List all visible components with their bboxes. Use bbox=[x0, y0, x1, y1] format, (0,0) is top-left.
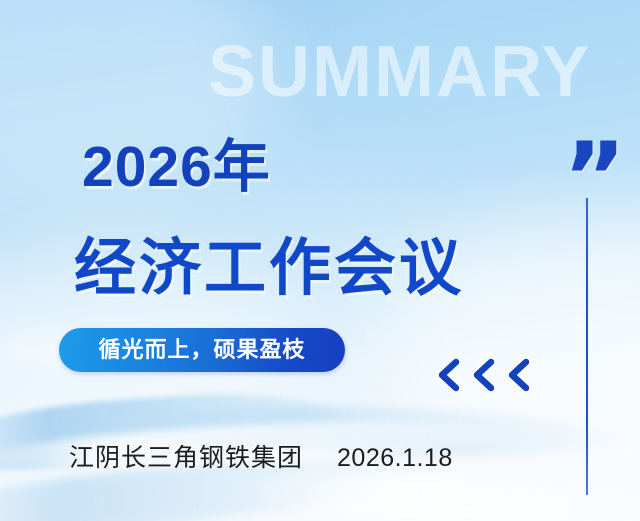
quotation-mark-icon: ” bbox=[563, 130, 626, 226]
watermark-heading: SUMMARY bbox=[208, 36, 638, 108]
vertical-accent-rule bbox=[586, 198, 588, 495]
slogan-badge: 循光而上，硕果盈枝 bbox=[59, 328, 345, 372]
page-title-year: 2026年 bbox=[82, 139, 271, 196]
chevron-left-icon bbox=[432, 358, 462, 392]
footer-date: 2026.1.18 bbox=[337, 446, 453, 471]
background-wave-5 bbox=[229, 466, 640, 521]
footer-organization: 江阴长三角钢铁集团 bbox=[69, 446, 303, 471]
page-title-main: 经济工作会议 bbox=[74, 238, 464, 300]
chevron-left-icon bbox=[502, 358, 532, 392]
footer: 江阴长三角钢铁集团 2026.1.18 bbox=[69, 446, 453, 471]
slogan-badge-label: 循光而上，硕果盈枝 bbox=[98, 339, 305, 361]
chevron-left-icon bbox=[467, 358, 497, 392]
summary-poster: SUMMARY 2026年 经济工作会议 循光而上，硕果盈枝 ” 江阴长三角钢铁… bbox=[0, 0, 640, 521]
chevron-group bbox=[432, 358, 532, 392]
